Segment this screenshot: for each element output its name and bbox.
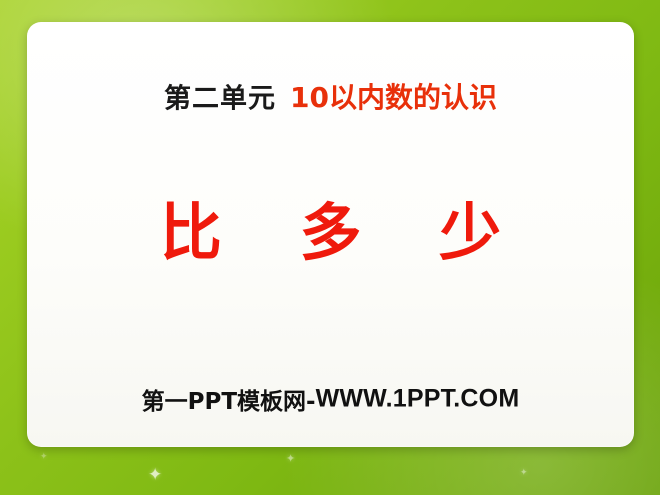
sparkle-icon: ✦ <box>148 466 162 483</box>
unit-heading: 第二单元10以内数的认识 <box>27 76 634 116</box>
sparkle-icon: ✦ <box>40 452 48 461</box>
slide-canvas: ✦ ✦ ✦ ✦ ✦ 第二单元10以内数的认识 比 多 少 第一PPT模板网-WW… <box>0 0 660 495</box>
footer-site-name-cn: 第一PPT模板网- <box>142 389 316 415</box>
page-title: 比 多 少 <box>27 200 634 265</box>
sparkle-icon: ✦ <box>286 454 295 465</box>
footer-watermark: 第一PPT模板网-WWW.1PPT.COM <box>27 382 634 416</box>
unit-topic-label: 10以内数的认识 <box>290 81 497 114</box>
footer-site-url: WWW.1PPT.COM <box>316 385 520 413</box>
sparkle-icon: ✦ <box>520 468 528 477</box>
slide-content-card: 第二单元10以内数的认识 比 多 少 第一PPT模板网-WWW.1PPT.COM <box>27 22 634 447</box>
unit-number-label: 第二单元 <box>164 84 276 115</box>
